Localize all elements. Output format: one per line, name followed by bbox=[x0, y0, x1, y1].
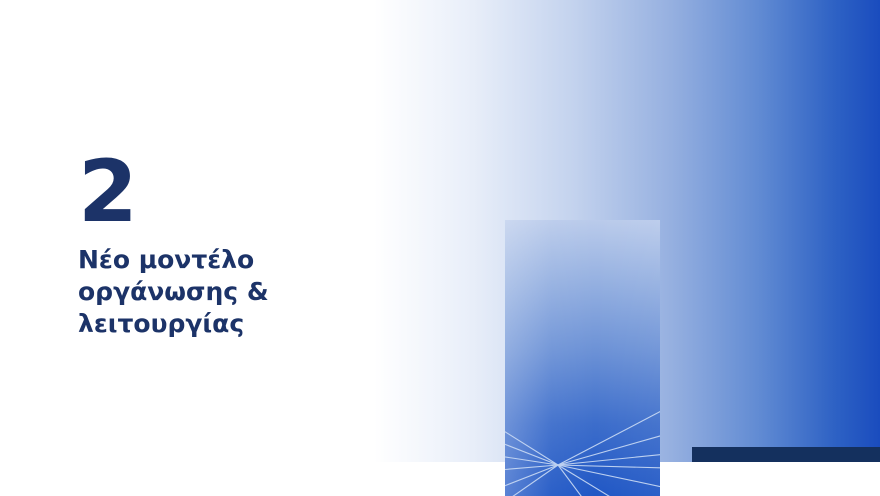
slide-canvas: 2 Νέο μοντέλο οργάνωσης & λειτουργίας bbox=[0, 0, 880, 496]
section-text-block: 2 Νέο μοντέλο οργάνωσης & λειτουργίας bbox=[78, 152, 438, 340]
burst-lines-svg bbox=[505, 220, 660, 496]
burst-line bbox=[505, 428, 558, 465]
burst-line bbox=[558, 465, 660, 488]
burst-line bbox=[558, 454, 660, 465]
bottom-right-white-band bbox=[660, 462, 880, 496]
burst-line bbox=[505, 465, 558, 470]
section-title: Νέο μοντέλο οργάνωσης & λειτουργίας bbox=[78, 244, 418, 340]
burst-line bbox=[558, 465, 593, 496]
burst-line bbox=[558, 465, 660, 468]
bottom-left-white-band bbox=[0, 462, 505, 496]
burst-line-group bbox=[505, 408, 660, 496]
burst-line bbox=[505, 442, 558, 465]
radiating-line-burst bbox=[505, 220, 660, 496]
navy-accent-bar bbox=[692, 447, 880, 462]
section-number: 2 bbox=[78, 152, 438, 234]
burst-line bbox=[505, 465, 558, 496]
